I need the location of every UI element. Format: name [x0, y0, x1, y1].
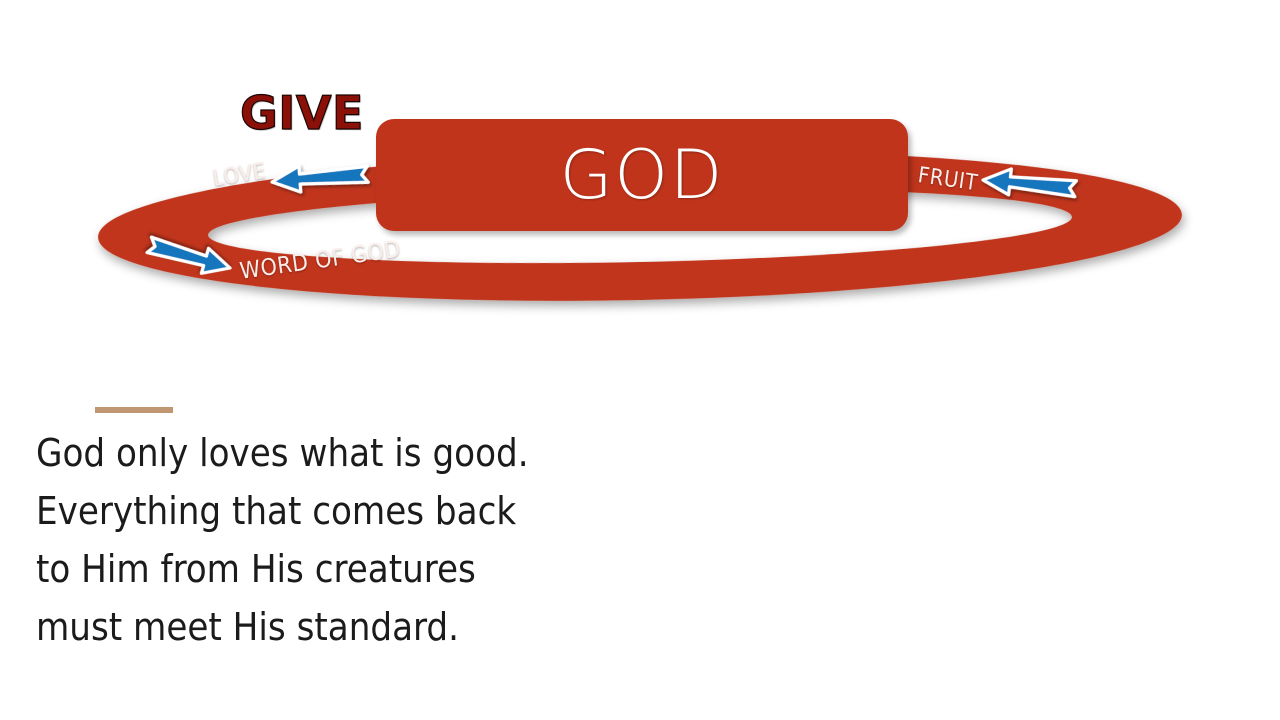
slide-canvas: GIVE GOD LOVE WORD OF GOD FRUIT God only… [0, 0, 1280, 720]
body-text-line: to Him from His creatures [36, 540, 596, 598]
body-text-line: God only loves what is good. [36, 424, 596, 482]
body-text: God only loves what is good. Everything … [36, 424, 596, 656]
give-caption: GIVE [240, 88, 364, 138]
body-text-line: must meet His standard. [36, 598, 596, 656]
god-node-label: GOD [376, 119, 908, 231]
accent-bar [95, 407, 173, 413]
cycle-diagram: GIVE GOD LOVE WORD OF GOD FRUIT [0, 0, 1280, 380]
god-node[interactable]: GOD [376, 119, 908, 231]
body-text-line: Everything that comes back [36, 482, 596, 540]
